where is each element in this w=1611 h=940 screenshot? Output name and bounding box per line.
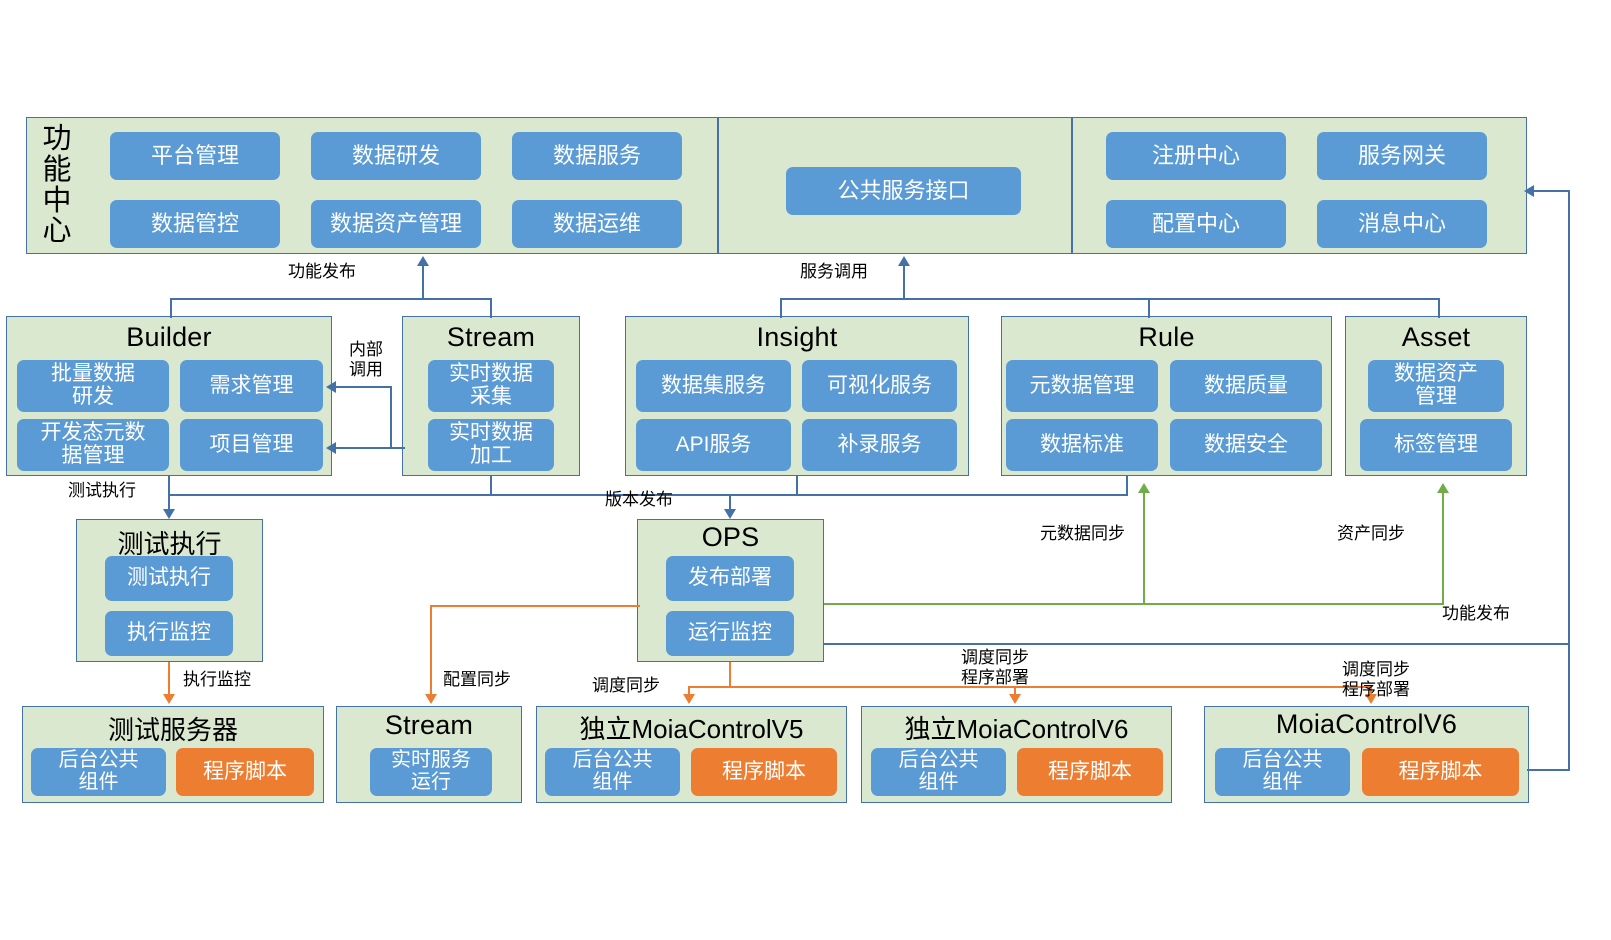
chip-project-management[interactable]: 项目管理 [180, 419, 323, 471]
edge-asset-sync-riser [1442, 492, 1444, 604]
edge-label-feature-publish-right: 功能发布 [1400, 604, 1510, 624]
chip-release-deploy[interactable]: 发布部署 [666, 556, 794, 601]
edge-internal-call-arrow-bottom [326, 442, 336, 454]
chip-dataset-service[interactable]: 数据集服务 [636, 360, 791, 412]
edge-feature-publish-riser [422, 264, 424, 300]
insight-title: Insight [625, 322, 969, 353]
edge-label-schedule-sync-deploy2: 调度同步 程序部署 [1296, 660, 1456, 700]
edge-label-schedule-sync: 调度同步 [592, 676, 660, 696]
asset-title: Asset [1345, 322, 1527, 353]
moiacontrolv6-standalone-title: 独立MoiaControlV6 [861, 709, 1172, 746]
edge-internal-call-arrow-top [326, 381, 336, 393]
chip-program-script-3[interactable]: 程序脚本 [1017, 748, 1163, 796]
chip-supplement-service[interactable]: 补录服务 [802, 419, 957, 471]
chip-dev-metadata-management[interactable]: 开发态元数 据管理 [17, 419, 169, 471]
chip-registry-center[interactable]: 注册中心 [1106, 132, 1286, 180]
edge-label-version-publish: 版本发布 [605, 490, 673, 510]
chip-backend-common-components-0[interactable]: 后台公共 组件 [31, 748, 166, 796]
edge-schedule-ops-stem [729, 662, 731, 686]
edge-right-feature-publish-bottom [1527, 769, 1570, 771]
chip-backend-common-components-4[interactable]: 后台公共 组件 [1215, 748, 1350, 796]
chip-test-execution[interactable]: 测试执行 [105, 556, 233, 601]
builder-title: Builder [6, 322, 332, 353]
architecture-diagram: 功 能 中 心 平台管理 数据研发 数据服务 数据管控 数据资产管理 数据运维 … [0, 0, 1611, 940]
edge-service-call-asset-drop [1438, 298, 1440, 318]
chip-realtime-service-runtime[interactable]: 实时服务 运行 [370, 748, 492, 796]
chip-public-service-interface[interactable]: 公共服务接口 [786, 167, 1021, 215]
edge-version-publish-rule-drop [1126, 476, 1128, 495]
chip-data-service[interactable]: 数据服务 [512, 132, 682, 180]
chip-realtime-data-processing[interactable]: 实时数据 加工 [428, 419, 554, 471]
edge-service-call-arrow [898, 256, 910, 266]
edge-label-metadata-sync: 元数据同步 [1040, 524, 1125, 544]
edge-metadata-sync-riser [1143, 492, 1145, 604]
edge-version-publish-arrow [724, 509, 736, 519]
edge-label-asset-sync: 资产同步 [1337, 524, 1405, 544]
chip-program-script-4[interactable]: 程序脚本 [1362, 748, 1519, 796]
stream-title: Stream [402, 322, 580, 353]
chip-api-service[interactable]: API服务 [636, 419, 791, 471]
edge-schedule-v6-arrow [1009, 694, 1021, 704]
chip-platform-management[interactable]: 平台管理 [110, 132, 280, 180]
edge-version-publish-insight-drop [796, 476, 798, 495]
edge-service-call-rule-drop [1148, 298, 1150, 318]
edge-internal-call-top [335, 386, 391, 388]
stream-server-title: Stream [336, 710, 522, 741]
edge-metadata-sync-arrow [1138, 483, 1150, 493]
edge-config-sync-arrow [425, 694, 437, 704]
fc-divider-1 [717, 118, 719, 253]
chip-tag-management[interactable]: 标签管理 [1360, 419, 1512, 471]
chip-data-quality[interactable]: 数据质量 [1170, 360, 1322, 412]
moiacontrolv5-title: 独立MoiaControlV5 [536, 709, 847, 746]
edge-service-call-riser [903, 264, 905, 300]
chip-data-governance[interactable]: 数据管控 [110, 200, 280, 248]
chip-visualization-service[interactable]: 可视化服务 [802, 360, 957, 412]
chip-backend-common-components-2[interactable]: 后台公共 组件 [545, 748, 680, 796]
edge-asset-sync-arrow [1437, 483, 1449, 493]
edge-right-feature-publish-riser [1568, 190, 1570, 770]
edge-feature-publish-right-drop [490, 298, 492, 318]
chip-requirement-management[interactable]: 需求管理 [180, 360, 323, 412]
edge-schedule-bus [688, 686, 1370, 688]
fc-title-char-1: 能 [42, 155, 71, 186]
chip-data-asset-management[interactable]: 数据资产管理 [311, 200, 481, 248]
edge-service-call-bus [780, 298, 1440, 300]
chip-data-asset-mgmt[interactable]: 数据资产 管理 [1368, 360, 1504, 412]
fc-title-char-0: 功 [42, 124, 71, 155]
edge-green-bus [824, 603, 1444, 605]
chip-metadata-management[interactable]: 元数据管理 [1006, 360, 1158, 412]
test-server-title: 测试服务器 [22, 710, 324, 747]
chip-config-center[interactable]: 配置中心 [1106, 200, 1286, 248]
chip-message-center[interactable]: 消息中心 [1317, 200, 1487, 248]
fc-title-char-2: 中 [42, 186, 71, 217]
fc-title-char-3: 心 [42, 216, 71, 247]
edge-test-exec-arrow [163, 509, 175, 519]
ops-title: OPS [637, 522, 824, 553]
edge-config-sync-top [430, 605, 640, 607]
edge-right-feature-publish-arrow [1524, 185, 1534, 197]
edge-label-config-sync: 配置同步 [443, 670, 511, 690]
chip-data-standard[interactable]: 数据标准 [1006, 419, 1158, 471]
edge-label-exec-monitor: 执行监控 [183, 670, 251, 690]
function-center-title: 功 能 中 心 [34, 119, 80, 252]
edge-service-call-insight-drop [780, 298, 782, 318]
edge-schedule-blue-bus [824, 643, 1569, 645]
edge-exec-monitor-drop [168, 662, 170, 698]
chip-program-script-2[interactable]: 程序脚本 [691, 748, 837, 796]
edge-internal-call-riser [390, 386, 392, 448]
chip-backend-common-components-3[interactable]: 后台公共 组件 [871, 748, 1006, 796]
moiacontrolv6-title: MoiaControlV6 [1204, 709, 1529, 740]
edge-feature-publish-left-drop [170, 298, 172, 318]
chip-data-operations[interactable]: 数据运维 [512, 200, 682, 248]
edge-label-internal-call: 内部 调用 [340, 340, 392, 380]
chip-service-gateway[interactable]: 服务网关 [1317, 132, 1487, 180]
edge-right-feature-publish-top [1532, 190, 1570, 192]
chip-data-security[interactable]: 数据安全 [1170, 419, 1322, 471]
edge-exec-monitor-arrow [163, 694, 175, 704]
fc-divider-2 [1071, 118, 1073, 253]
edge-schedule-v5-arrow [683, 694, 695, 704]
edge-label-test-exec: 测试执行 [68, 481, 136, 501]
edge-config-sync-drop [430, 605, 432, 698]
chip-data-development[interactable]: 数据研发 [311, 132, 481, 180]
chip-realtime-data-collection[interactable]: 实时数据 采集 [428, 360, 554, 412]
edge-version-publish-stream-drop [490, 476, 492, 495]
edge-label-service-call: 服务调用 [800, 262, 868, 282]
chip-execution-monitoring[interactable]: 执行监控 [105, 611, 233, 656]
edge-internal-call-bottom [335, 447, 405, 449]
chip-program-script-0[interactable]: 程序脚本 [176, 748, 314, 796]
rule-title: Rule [1001, 322, 1332, 353]
chip-batch-data-dev[interactable]: 批量数据 研发 [17, 360, 169, 412]
edge-feature-publish-bus [170, 298, 492, 300]
edge-label-feature-publish-top: 功能发布 [288, 262, 356, 282]
edge-feature-publish-arrow [417, 256, 429, 266]
edge-label-schedule-sync-deploy: 调度同步 程序部署 [915, 648, 1075, 688]
chip-runtime-monitoring[interactable]: 运行监控 [666, 611, 794, 656]
